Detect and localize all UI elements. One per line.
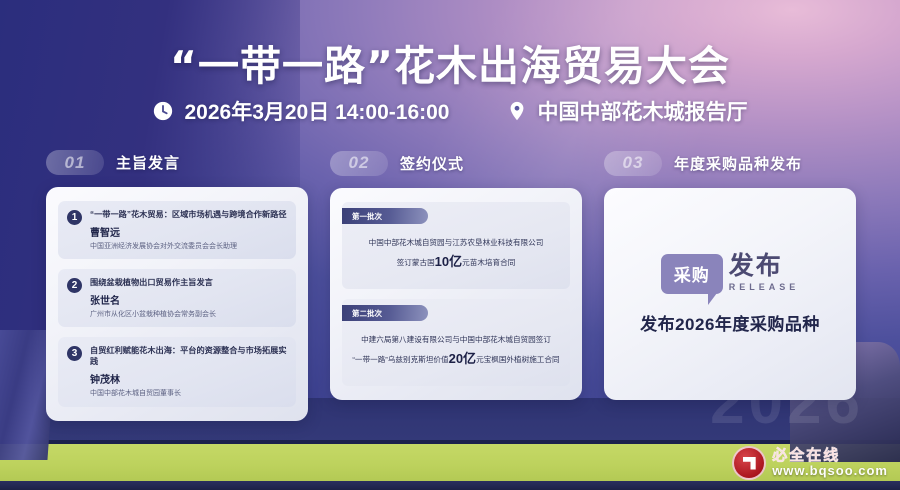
section-number-badge: 02 [330,151,388,176]
speaker-org: 中国中部花木城自贸园董事长 [90,389,287,398]
list-item: 2 围绕盆栽植物出口贸易作主旨发言 张世名 广州市从化区小盆栽种植协会常务副会长 [58,269,296,327]
list-item: 第一批次 中国中部花木城自贸园与江苏农垦林业科技有限公司 签订蒙古国10亿元苗木… [342,202,570,289]
watermark-brand: 必全在线 [772,448,888,464]
section-number-badge: 03 [604,151,662,176]
speaker-topic: 围绕盆栽植物出口贸易作主旨发言 [90,277,287,288]
page-title: “一带一路”花木出海贸易大会 [0,32,900,92]
speaker-topic: “一带一路”花木贸易：区域市场机遇与跨境合作新路径 [90,209,287,220]
agenda-columns: 01 主旨发言 1 “一带一路”花木贸易：区域市场机遇与跨境合作新路径 曹智远 … [0,150,900,400]
section-title: 年度采购品种发布 [674,153,802,174]
batch-line-2-prefix: 签订蒙古国 [397,258,435,267]
section-header-01: 01 主旨发言 [46,150,308,175]
section-header-02: 02 签约仪式 [330,150,582,176]
section-number-badge: 01 [46,150,104,175]
release-card: 采购 发布 RELEASE 发布2026年度采购品种 [604,188,856,400]
keynote-card: 1 “一带一路”花木贸易：区域市场机遇与跨境合作新路径 曹智远 中国亚洲经济发展… [46,187,308,421]
speaker-index-badge: 1 [67,210,82,225]
logo-bubble-text: 采购 [674,261,710,286]
watermark-url: www.bqsoo.com [772,464,888,478]
clock-icon [152,100,174,122]
event-meta: 2026年3月20日 14:00-16:00 中国中部花木城报告厅 [0,96,900,126]
logo-cn-text: 发布 [729,254,783,279]
batch-tag: 第一批次 [342,208,428,224]
signing-card: 第一批次 中国中部花木城自贸园与江苏农垦林业科技有限公司 签订蒙古国10亿元苗木… [330,188,582,400]
purchase-release-logo: 采购 发布 RELEASE [661,254,800,294]
logo-en-text: RELEASE [729,282,800,292]
location-pin-icon [506,100,528,122]
speaker-org: 中国亚洲经济发展协会对外交流委员会会长助理 [90,242,287,251]
batch-line-2-prefix: “一带一路”乌兹别克斯坦价值 [352,355,448,364]
speaker-index-badge: 2 [67,278,82,293]
bqsoo-logo-icon [732,446,766,480]
batch-line-2-suffix: 元宝枫国外植树施工合同 [476,355,560,364]
speaker-topic: 自贸红利赋能花木出海：平台的资源整合与市场拓展实践 [90,345,287,367]
batch-line-1: 中国中部花木城自贸园与江苏农垦林业科技有限公司 [369,237,544,248]
stage-floor [0,481,900,490]
site-watermark: 必全在线 www.bqsoo.com [732,446,888,480]
batch-line-2: 签订蒙古国10亿元苗木培育合同 [397,252,516,272]
column-signing: 02 签约仪式 第一批次 中国中部花木城自贸园与江苏农垦林业科技有限公司 签订蒙… [330,150,582,400]
batch-line-2-suffix: 元苗木培育合同 [462,258,515,267]
event-datetime-label: 2026年3月20日 14:00-16:00 [184,96,449,126]
event-location: 中国中部花木城报告厅 [506,96,748,126]
batch-line-2: “一带一路”乌兹别克斯坦价值20亿元宝枫国外植树施工合同 [352,349,559,369]
section-header-03: 03 年度采购品种发布 [604,150,856,176]
event-backdrop-screen: 2026 “一带一路”花木出海贸易大会 2026年3月20日 14:00-16:… [0,0,900,490]
list-item: 第二批次 中建六局第八建设有限公司与中国中部花木城自贸园签订 “一带一路”乌兹别… [342,299,570,386]
speaker-index-badge: 3 [67,346,82,361]
batch-amount: 20亿 [449,351,476,366]
release-main-text: 发布2026年度采购品种 [640,310,820,335]
speech-bubble-icon: 采购 [661,254,723,294]
speaker-name: 钟茂林 [90,371,287,386]
section-title: 主旨发言 [116,152,180,173]
column-keynote: 01 主旨发言 1 “一带一路”花木贸易：区域市场机遇与跨境合作新路径 曹智远 … [46,150,308,400]
event-location-label: 中国中部花木城报告厅 [538,96,748,126]
column-release: 03 年度采购品种发布 采购 发布 RELEASE 发布2026年度采购品种 [604,150,856,400]
list-item: 1 “一带一路”花木贸易：区域市场机遇与跨境合作新路径 曹智远 中国亚洲经济发展… [58,201,296,259]
speaker-org: 广州市从化区小盆栽种植协会常务副会长 [90,310,287,319]
speaker-name: 曹智远 [90,224,287,239]
section-title: 签约仪式 [400,153,464,174]
batch-tag: 第二批次 [342,305,428,321]
speaker-name: 张世名 [90,292,287,307]
event-datetime: 2026年3月20日 14:00-16:00 [152,96,449,126]
batch-amount: 10亿 [435,254,462,269]
batch-line-1: 中建六局第八建设有限公司与中国中部花木城自贸园签订 [361,334,551,345]
list-item: 3 自贸红利赋能花木出海：平台的资源整合与市场拓展实践 钟茂林 中国中部花木城自… [58,337,296,406]
